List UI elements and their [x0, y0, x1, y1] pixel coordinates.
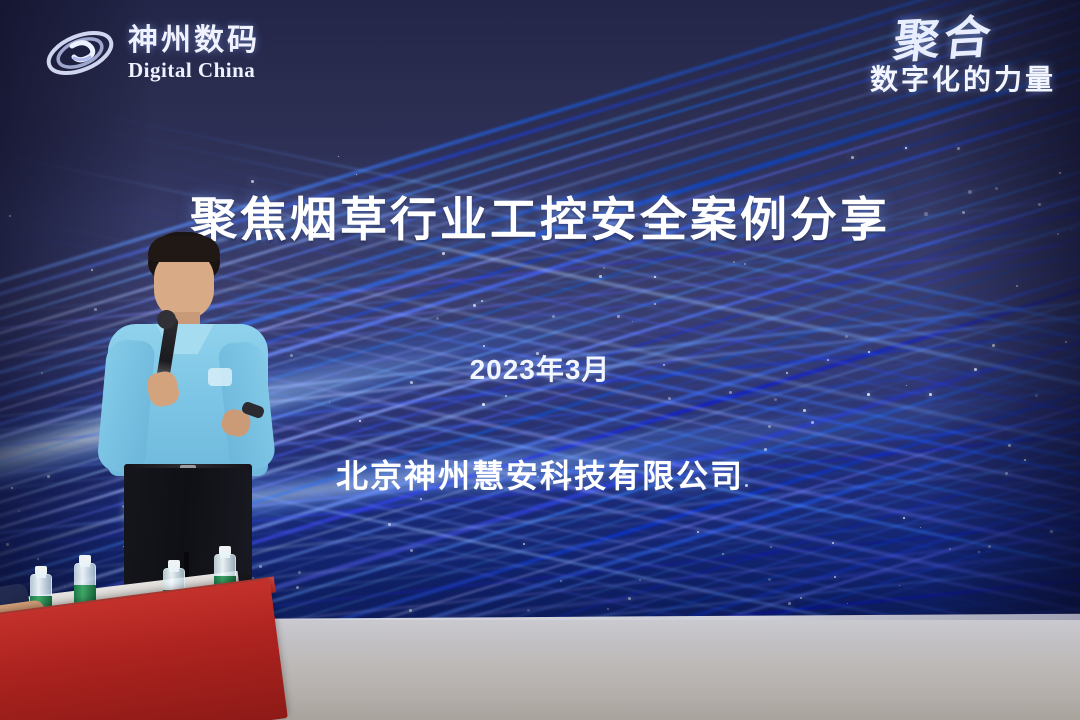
brand-name-cn: 神州数码 [128, 26, 260, 56]
digital-china-logo: 神州数码 Digital China [42, 22, 260, 84]
bottle-neck [80, 561, 90, 567]
presenter-shirt-logo [208, 368, 232, 386]
stage-photo-scene: 神州数码 Digital China 聚合 数字化的力量 聚焦烟草行业工控安全案… [0, 0, 1080, 720]
bottle-neck [169, 566, 179, 572]
calligraphy-juhe: 聚合 [891, 13, 997, 66]
digital-china-swirl-logo-icon [42, 22, 118, 84]
bottle-neck [220, 552, 230, 558]
presenter [96, 232, 281, 624]
event-brand-mark: 聚合 数字化的力量 [806, 16, 1056, 98]
presenter-fringe [148, 236, 220, 262]
brand-name-en: Digital China [128, 60, 260, 81]
bottle-neck [36, 572, 46, 578]
